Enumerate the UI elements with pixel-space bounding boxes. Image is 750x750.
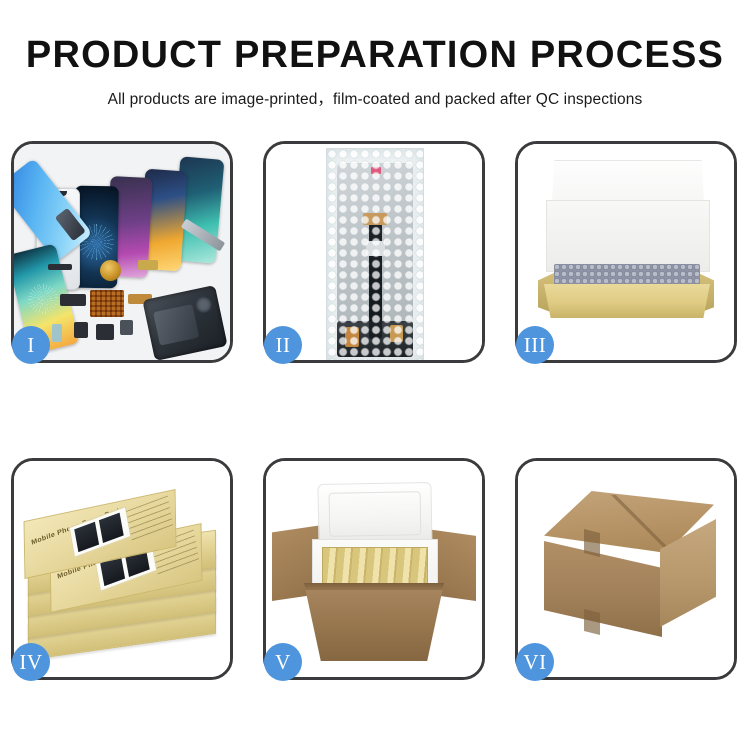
open-kraft-box-scene <box>518 144 734 360</box>
step-5-image <box>266 461 482 677</box>
gold-connector-part <box>138 260 158 270</box>
flex-connector-head <box>366 241 385 256</box>
process-step-panel-3: III <box>515 141 737 363</box>
carton-tape-lower <box>584 609 600 635</box>
step-3-image <box>518 144 734 360</box>
carton-front-face <box>544 541 662 637</box>
step-badge-3: III <box>516 326 554 364</box>
bubble-wrap-bag <box>326 148 424 360</box>
flex-cable-part <box>48 264 72 270</box>
step-6-image <box>518 461 734 677</box>
taptic-engine-part <box>96 324 114 340</box>
carton-body <box>304 583 444 661</box>
red-label-tab <box>371 167 381 174</box>
carton-with-foam-scene <box>266 461 482 677</box>
phone-chassis-part <box>142 285 227 360</box>
box-spec-lines <box>126 496 173 544</box>
step-badge-5: V <box>264 643 302 681</box>
bottom-components-cluster <box>337 321 413 357</box>
carton-tape-upper <box>584 529 600 557</box>
camera-module-part <box>60 294 86 306</box>
process-steps-grid: I II <box>11 141 739 680</box>
box-artwork-phone-right <box>99 513 124 543</box>
page-title: PRODUCT PREPARATION PROCESS <box>0 0 750 76</box>
phones-and-parts-scene <box>14 144 230 360</box>
screw-plate-part <box>90 290 124 317</box>
process-step-panel-4: Mobile Phone Spare Parts Mobile Phone Sp… <box>11 458 233 680</box>
page-subtitle: All products are image-printed，film-coat… <box>0 76 750 109</box>
speaker-part <box>74 322 88 338</box>
bubble-wrap-scene <box>266 144 482 360</box>
page-header: PRODUCT PREPARATION PROCESS All products… <box>0 0 750 109</box>
box-stack: Mobile Phone Spare Parts Mobile Phone Sp… <box>22 489 222 669</box>
box-artwork-phone-left <box>74 522 99 552</box>
sealed-carton-scene <box>518 461 734 677</box>
step-4-image: Mobile Phone Spare Parts Mobile Phone Sp… <box>14 461 230 677</box>
step-1-image <box>14 144 230 360</box>
step-badge-1: I <box>12 326 50 364</box>
process-step-panel-2: II <box>263 141 485 363</box>
step-2-image <box>266 144 482 360</box>
process-step-panel-6: VI <box>515 458 737 680</box>
copper-coil-part <box>100 260 121 281</box>
sim-tray-part <box>120 320 133 335</box>
stacked-boxes-scene: Mobile Phone Spare Parts Mobile Phone Sp… <box>14 461 230 677</box>
step-badge-6: VI <box>516 643 554 681</box>
process-step-panel-5: V <box>263 458 485 680</box>
kraft-box-base <box>544 284 710 318</box>
step-badge-2: II <box>264 326 302 364</box>
small-sensor-part <box>52 324 62 342</box>
process-step-panel-1: I <box>11 141 233 363</box>
box-lid-front <box>546 200 710 272</box>
step-badge-4: IV <box>12 643 50 681</box>
flex-cable-chip <box>363 213 387 225</box>
